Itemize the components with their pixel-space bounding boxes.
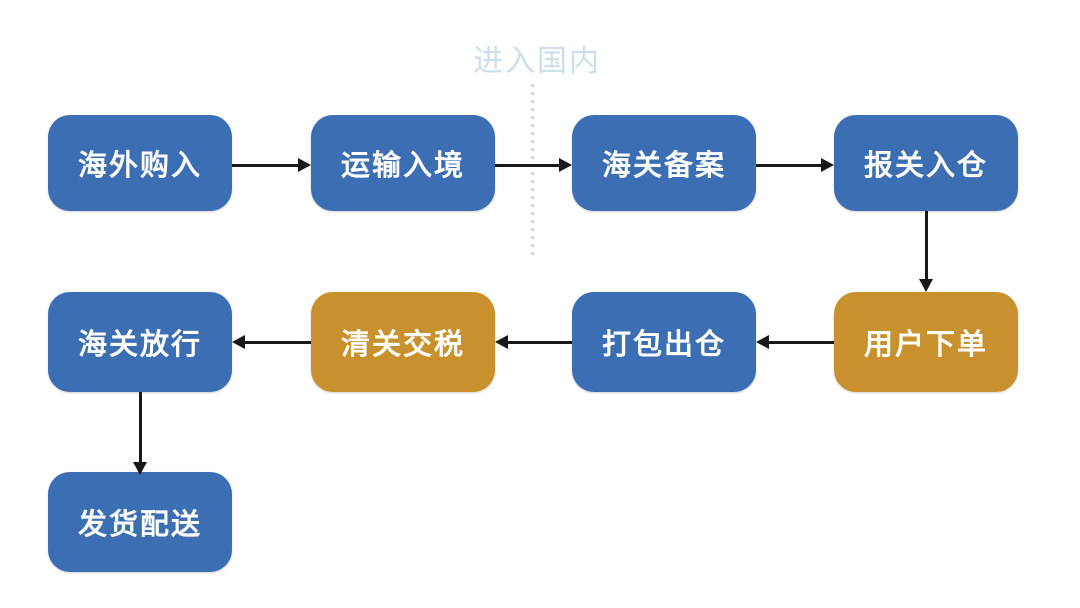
node-label: 报关入仓 <box>864 142 988 184</box>
node-label: 清关交税 <box>341 321 465 363</box>
edge-transport-entry-to-customs-filing <box>495 157 572 173</box>
node-customs-release[interactable]: 海关放行 <box>48 292 232 392</box>
node-label: 打包出仓 <box>602 321 726 363</box>
flowchart-canvas: 进入国内 海外购入 运输入境 海关备案 报关入仓 用户下单 打包出仓 清关交税 … <box>0 0 1080 608</box>
node-label: 海外购入 <box>78 142 202 184</box>
edge-user-order-to-pack-outbound <box>756 334 834 350</box>
node-overseas-purchase[interactable]: 海外购入 <box>48 115 232 211</box>
node-declare-warehouse[interactable]: 报关入仓 <box>834 115 1018 211</box>
node-ship-delivery[interactable]: 发货配送 <box>48 472 232 572</box>
edge-pack-outbound-to-clearance-tax <box>495 334 572 350</box>
node-transport-entry[interactable]: 运输入境 <box>311 115 495 211</box>
node-pack-outbound[interactable]: 打包出仓 <box>572 292 756 392</box>
node-user-order[interactable]: 用户下单 <box>834 292 1018 392</box>
edge-declare-warehouse-to-user-order <box>918 211 934 293</box>
edge-customs-release-to-ship-delivery <box>132 392 148 476</box>
node-label: 发货配送 <box>78 501 202 543</box>
node-label: 运输入境 <box>341 142 465 184</box>
node-clearance-tax[interactable]: 清关交税 <box>311 292 495 392</box>
section-label-enter-domestic: 进入国内 <box>452 36 622 80</box>
edge-overseas-purchase-to-transport-entry <box>232 157 311 173</box>
node-label: 用户下单 <box>864 321 988 363</box>
edge-customs-filing-to-declare-warehouse <box>756 157 834 173</box>
node-label: 海关放行 <box>78 321 202 363</box>
node-label: 海关备案 <box>602 142 726 184</box>
edge-clearance-tax-to-customs-release <box>232 334 311 350</box>
node-customs-filing[interactable]: 海关备案 <box>572 115 756 211</box>
